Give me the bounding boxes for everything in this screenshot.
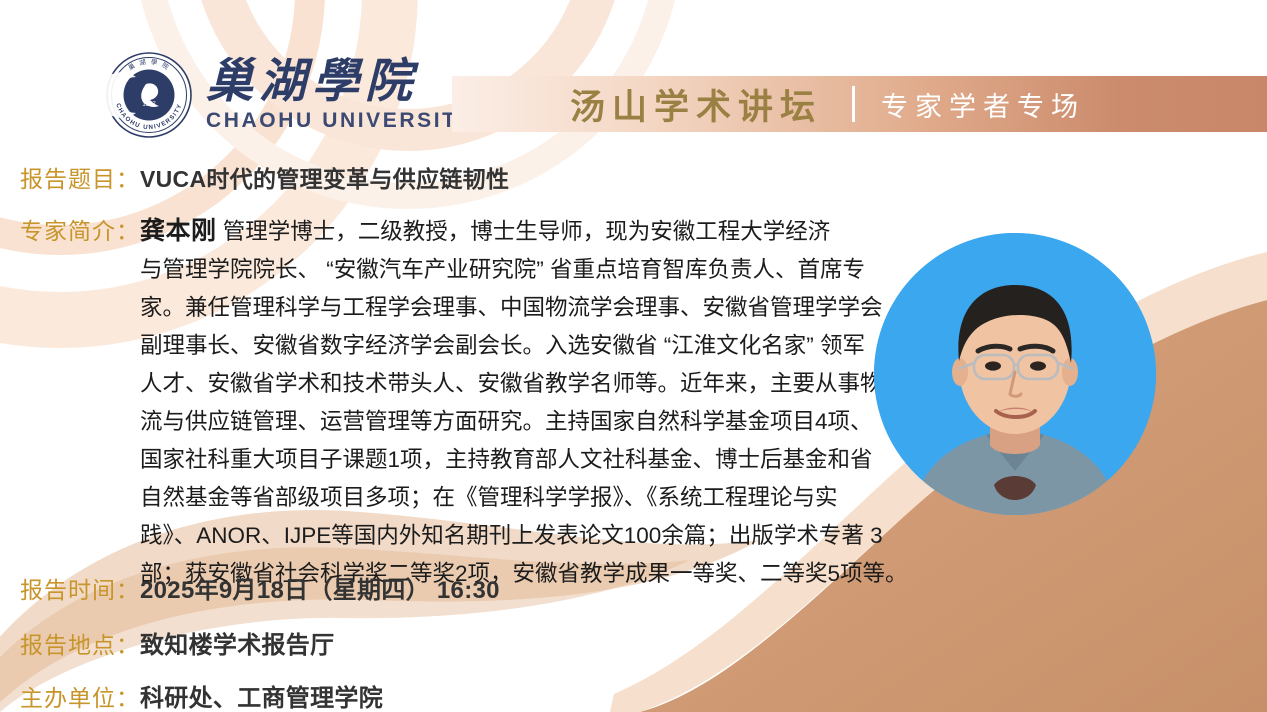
report-place-label: 报告地点： — [20, 626, 140, 660]
report-host-value: 科研处、工商管理学院 — [140, 678, 383, 712]
svg-text:1977: 1977 — [142, 102, 156, 108]
report-title-value: VUCA时代的管理变革与供应链韧性 — [140, 160, 509, 194]
speaker-bio-row: 专家简介： 龚本刚 管理学博士，二级教授，博士生导师，现为安徽工程大学经济 与管… — [20, 212, 908, 593]
bio-line: 践》、ANOR、IJPE等国内外知名期刊上发表论文100余篇；出版学术专著 3 — [140, 517, 908, 555]
university-seal-icon: 1977 巢 湖 學 院 CHAOHU UNIVERSITY — [106, 52, 192, 138]
bio-line: 副理事长、安徽省数字经济学会副会长。入选安徽省 “江淮文化名家” 领军 — [140, 327, 908, 365]
banner-main-title: 汤山学术讲坛 — [570, 79, 822, 130]
banner-divider — [852, 86, 855, 122]
speaker-bio-label: 专家简介： — [20, 212, 140, 246]
banner-subtitle: 专家学者专场 — [881, 85, 1085, 124]
bio-line: 与管理学院院长、 “安徽汽车产业研究院” 省重点培育智库负责人、首席专 — [140, 251, 908, 289]
report-place-row: 报告地点： 致知楼学术报告厅 — [20, 625, 334, 660]
forum-banner: 汤山学术讲坛 专家学者专场 — [452, 76, 1267, 132]
report-host-label: 主办单位： — [20, 679, 140, 712]
bio-line: 家。兼任管理科学与工程学会理事、中国物流学会理事、安徽省管理学学会 — [140, 289, 908, 327]
report-time-value: 2025年9月18日（星期四） 16:30 — [140, 570, 500, 605]
report-title-row: 报告题目： VUCA时代的管理变革与供应链韧性 — [20, 160, 509, 194]
university-name-cn: 巢湖學院 — [206, 57, 418, 106]
poster-header: 1977 巢 湖 學 院 CHAOHU UNIVERSITY 巢湖學院 CHAO… — [0, 0, 1267, 152]
bio-line: 龚本刚 管理学博士，二级教授，博士生导师，现为安徽工程大学经济 — [140, 212, 908, 251]
report-host-row: 主办单位： 科研处、工商管理学院 — [20, 678, 383, 712]
speaker-portrait — [874, 233, 1156, 515]
bio-line: 自然基金等省部级项目多项；在《管理科学学报》、《系统工程理论与实 — [140, 479, 908, 517]
bio-line-text: 管理学博士，二级教授，博士生导师，现为安徽工程大学经济 — [217, 219, 831, 244]
speaker-name: 龚本刚 — [140, 217, 217, 245]
bio-line: 流与供应链管理、运营管理等方面研究。主持国家自然科学基金项目4项、 — [140, 403, 908, 441]
speaker-bio-body: 龚本刚 管理学博士，二级教授，博士生导师，现为安徽工程大学经济 与管理学院院长、… — [140, 212, 908, 593]
report-time-row: 报告时间： 2025年9月18日（星期四） 16:30 — [20, 570, 500, 605]
report-place-value: 致知楼学术报告厅 — [140, 625, 334, 660]
university-name-en: CHAOHU UNIVERSITY — [206, 109, 474, 133]
portrait-illustration — [874, 233, 1156, 515]
university-logo: 1977 巢 湖 學 院 CHAOHU UNIVERSITY 巢湖學院 CHAO… — [106, 52, 474, 138]
bio-line: 国家社科重大项目子课题1项，主持教育部人文社科基金、博士后基金和省 — [140, 441, 908, 479]
university-wordmark: 巢湖學院 CHAOHU UNIVERSITY — [206, 57, 474, 133]
bio-line: 人才、安徽省学术和技术带头人、安徽省教学名师等。近年来，主要从事物 — [140, 365, 908, 403]
poster-root: 1977 巢 湖 學 院 CHAOHU UNIVERSITY 巢湖學院 CHAO… — [0, 0, 1267, 712]
report-title-label: 报告题目： — [20, 160, 140, 194]
report-time-label: 报告时间： — [20, 571, 140, 605]
